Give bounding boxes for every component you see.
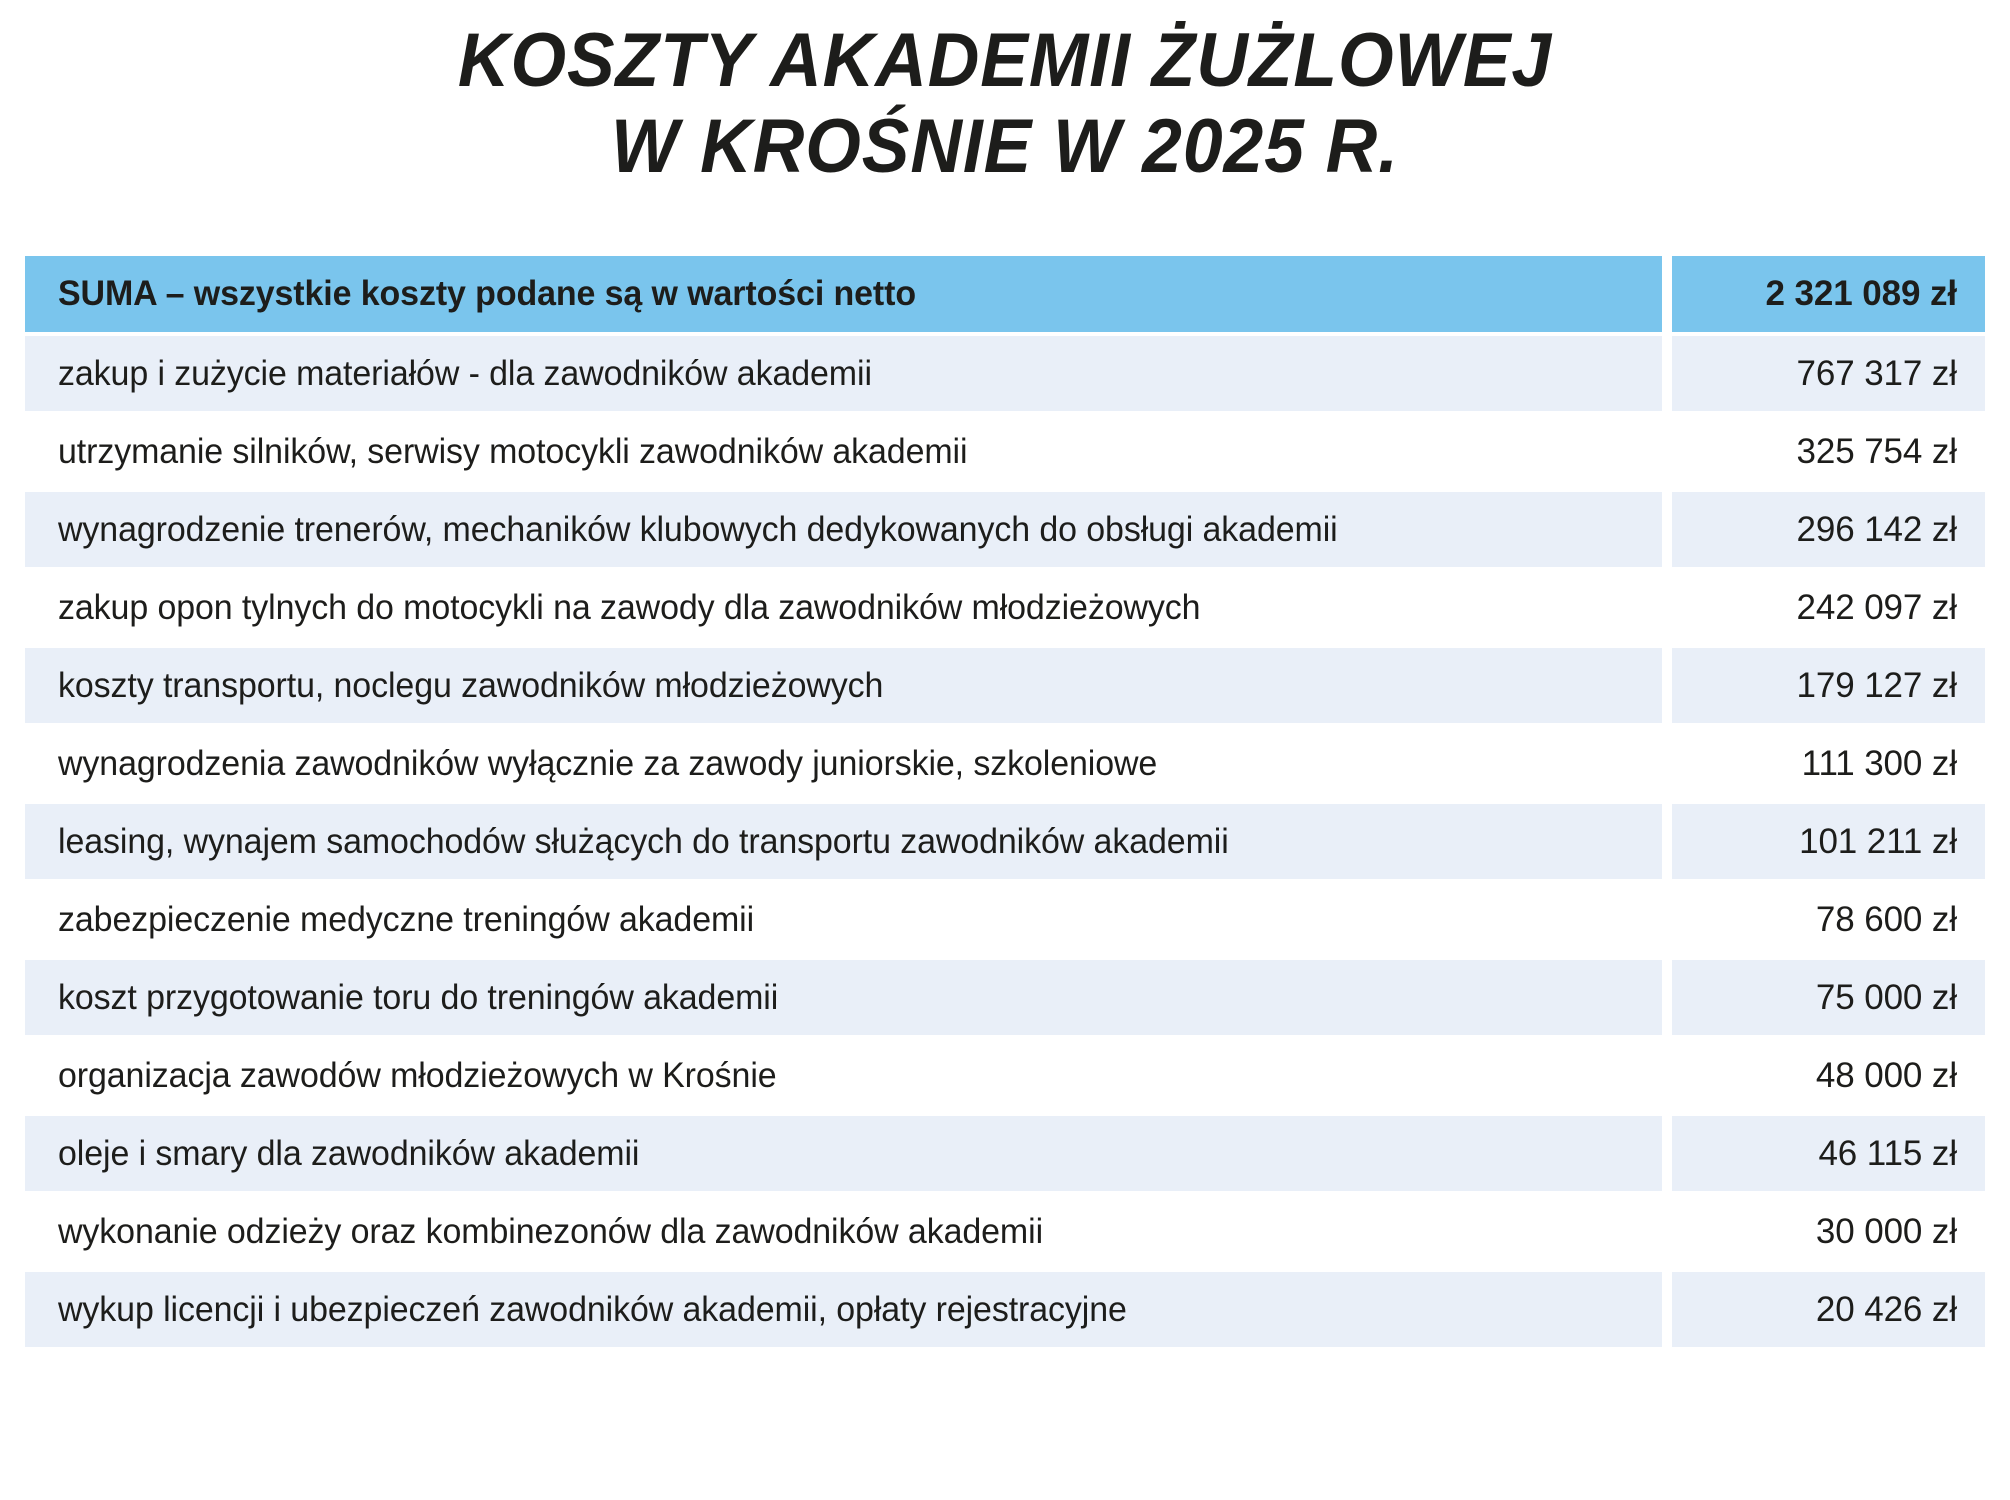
column-gap	[1662, 960, 1672, 1035]
header-value-cell: 2 321 089 zł	[1672, 256, 1985, 332]
table-row: utrzymanie silników, serwisy motocykli z…	[25, 414, 1985, 489]
column-gap	[1662, 804, 1672, 879]
row-label-text: koszty transportu, noclegu zawodników mł…	[58, 666, 883, 706]
table-row: wykonanie odzieży oraz kombinezonów dla …	[25, 1194, 1985, 1269]
column-gap	[1662, 1194, 1672, 1269]
table-header-row: SUMA – wszystkie koszty podane są w wart…	[25, 256, 1985, 332]
table-row: zakup i zużycie materiałów - dla zawodni…	[25, 336, 1985, 411]
row-value-text: 101 211 zł	[1799, 822, 1957, 862]
header-label-text: SUMA – wszystkie koszty podane są w wart…	[58, 274, 916, 314]
row-label-text: utrzymanie silników, serwisy motocykli z…	[58, 432, 967, 472]
row-value-text: 46 115 zł	[1818, 1134, 1957, 1174]
row-value-cell: 48 000 zł	[1672, 1038, 1985, 1113]
column-gap	[1662, 492, 1672, 567]
column-gap	[1662, 726, 1672, 801]
header-label-cell: SUMA – wszystkie koszty podane są w wart…	[25, 256, 1662, 332]
row-label-cell: zabezpieczenie medyczne treningów akadem…	[25, 882, 1662, 957]
row-label-cell: koszty transportu, noclegu zawodników mł…	[25, 648, 1662, 723]
header-value-text: 2 321 089 zł	[1766, 274, 1957, 314]
table-row: organizacja zawodów młodzieżowych w Kroś…	[25, 1038, 1985, 1113]
row-value-cell: 20 426 zł	[1672, 1272, 1985, 1347]
row-value-cell: 325 754 zł	[1672, 414, 1985, 489]
row-label-cell: leasing, wynajem samochodów służących do…	[25, 804, 1662, 879]
row-label-cell: wynagrodzenia zawodników wyłącznie za za…	[25, 726, 1662, 801]
row-label-cell: koszt przygotowanie toru do treningów ak…	[25, 960, 1662, 1035]
row-label-cell: zakup i zużycie materiałów - dla zawodni…	[25, 336, 1662, 411]
row-value-text: 767 317 zł	[1796, 354, 1957, 394]
table-row: wykup licencji i ubezpieczeń zawodników …	[25, 1272, 1985, 1347]
row-label-text: zabezpieczenie medyczne treningów akadem…	[58, 900, 754, 940]
row-label-text: zakup i zużycie materiałów - dla zawodni…	[58, 354, 872, 394]
table-row: zabezpieczenie medyczne treningów akadem…	[25, 882, 1985, 957]
table-row: wynagrodzenia zawodników wyłącznie za za…	[25, 726, 1985, 801]
column-gap	[1662, 256, 1672, 332]
page-title: KOSZTY AKADEMII ŻUŻLOWEJ W KROŚNIE W 202…	[0, 18, 2010, 190]
table-row: wynagrodzenie trenerów, mechaników klubo…	[25, 492, 1985, 567]
row-label-text: zakup opon tylnych do motocykli na zawod…	[58, 588, 1200, 628]
row-value-cell: 46 115 zł	[1672, 1116, 1985, 1191]
table-row: oleje i smary dla zawodników akademii46 …	[25, 1116, 1985, 1191]
row-value-text: 75 000 zł	[1816, 978, 1957, 1018]
row-value-cell: 179 127 zł	[1672, 648, 1985, 723]
row-label-text: wynagrodzenia zawodników wyłącznie za za…	[58, 744, 1157, 784]
row-label-cell: zakup opon tylnych do motocykli na zawod…	[25, 570, 1662, 645]
row-label-text: leasing, wynajem samochodów służących do…	[58, 822, 1229, 862]
row-value-text: 111 300 zł	[1802, 744, 1957, 784]
row-label-text: organizacja zawodów młodzieżowych w Kroś…	[58, 1056, 777, 1096]
row-label-text: oleje i smary dla zawodników akademii	[58, 1134, 639, 1174]
column-gap	[1662, 648, 1672, 723]
row-label-cell: utrzymanie silników, serwisy motocykli z…	[25, 414, 1662, 489]
row-value-cell: 111 300 zł	[1672, 726, 1985, 801]
column-gap	[1662, 414, 1672, 489]
column-gap	[1662, 336, 1672, 411]
row-value-text: 296 142 zł	[1796, 510, 1957, 550]
row-value-text: 179 127 zł	[1796, 666, 1957, 706]
row-label-cell: wykonanie odzieży oraz kombinezonów dla …	[25, 1194, 1662, 1269]
row-value-text: 242 097 zł	[1796, 588, 1957, 628]
table-row: koszty transportu, noclegu zawodników mł…	[25, 648, 1985, 723]
row-value-cell: 242 097 zł	[1672, 570, 1985, 645]
row-value-text: 30 000 zł	[1816, 1212, 1957, 1252]
column-gap	[1662, 1116, 1672, 1191]
row-label-text: wynagrodzenie trenerów, mechaników klubo…	[58, 510, 1338, 550]
table-row: koszt przygotowanie toru do treningów ak…	[25, 960, 1985, 1035]
row-label-cell: wynagrodzenie trenerów, mechaników klubo…	[25, 492, 1662, 567]
infographic-page: KOSZTY AKADEMII ŻUŻLOWEJ W KROŚNIE W 202…	[0, 0, 2010, 1500]
row-label-text: koszt przygotowanie toru do treningów ak…	[58, 978, 778, 1018]
row-value-cell: 296 142 zł	[1672, 492, 1985, 567]
row-value-cell: 78 600 zł	[1672, 882, 1985, 957]
column-gap	[1662, 882, 1672, 957]
row-value-text: 78 600 zł	[1816, 900, 1957, 940]
costs-table: SUMA – wszystkie koszty podane są w wart…	[25, 256, 1985, 1350]
table-row: leasing, wynajem samochodów służących do…	[25, 804, 1985, 879]
row-label-text: wykonanie odzieży oraz kombinezonów dla …	[58, 1212, 1043, 1252]
row-value-text: 48 000 zł	[1816, 1056, 1957, 1096]
row-label-cell: organizacja zawodów młodzieżowych w Kroś…	[25, 1038, 1662, 1113]
column-gap	[1662, 570, 1672, 645]
table-body: zakup i zużycie materiałów - dla zawodni…	[25, 336, 1985, 1347]
row-label-text: wykup licencji i ubezpieczeń zawodników …	[58, 1290, 1127, 1330]
row-value-text: 325 754 zł	[1796, 432, 1957, 472]
row-value-text: 20 426 zł	[1816, 1290, 1957, 1330]
row-label-cell: oleje i smary dla zawodników akademii	[25, 1116, 1662, 1191]
row-value-cell: 767 317 zł	[1672, 336, 1985, 411]
row-value-cell: 75 000 zł	[1672, 960, 1985, 1035]
row-value-cell: 101 211 zł	[1672, 804, 1985, 879]
title-line-1: KOSZTY AKADEMII ŻUŻLOWEJ	[60, 18, 1949, 104]
row-label-cell: wykup licencji i ubezpieczeń zawodników …	[25, 1272, 1662, 1347]
column-gap	[1662, 1272, 1672, 1347]
row-value-cell: 30 000 zł	[1672, 1194, 1985, 1269]
column-gap	[1662, 1038, 1672, 1113]
table-row: zakup opon tylnych do motocykli na zawod…	[25, 570, 1985, 645]
title-line-2: W KROŚNIE W 2025 R.	[60, 104, 1949, 190]
